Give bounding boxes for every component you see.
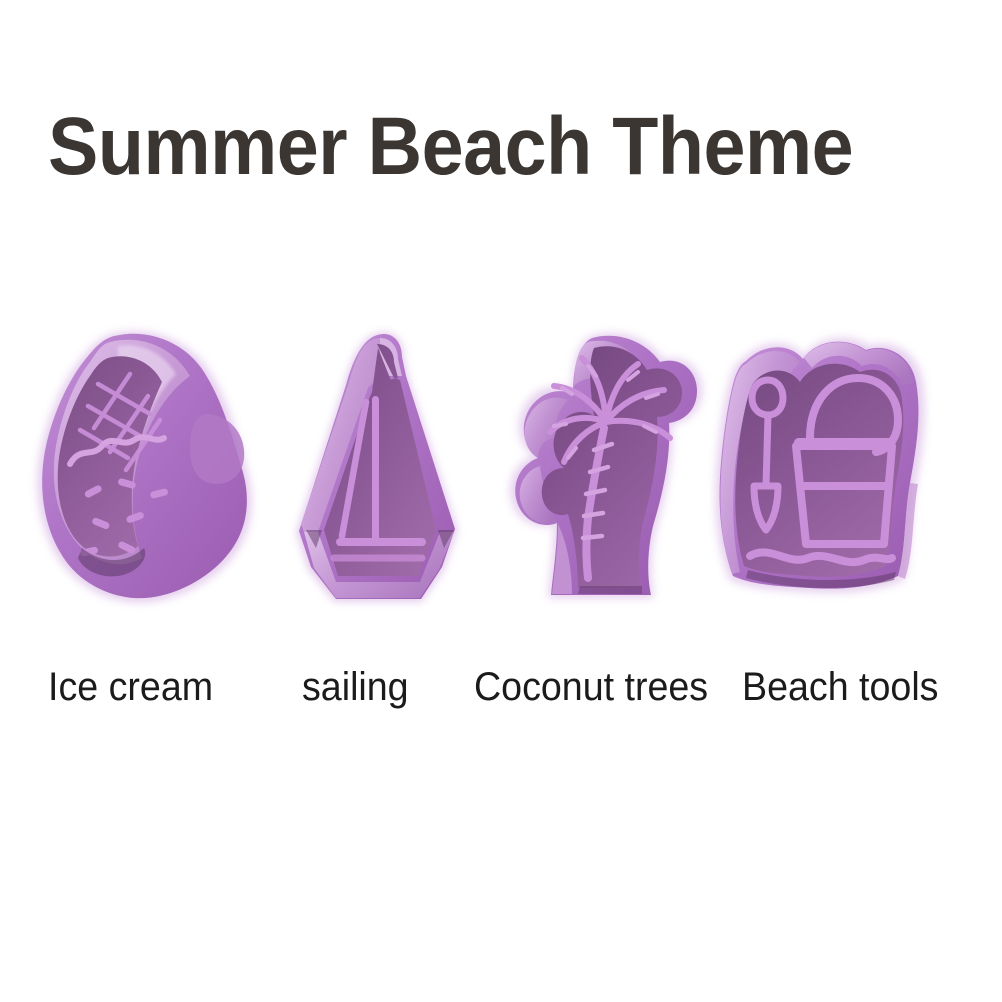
deck-line <box>336 538 426 546</box>
pail-band-line <box>800 482 890 490</box>
cutter-sailing[interactable] <box>272 318 488 618</box>
page-title: Summer Beach Theme <box>48 104 830 190</box>
pail-rim-band <box>794 438 894 447</box>
cutter-ice-cream[interactable] <box>22 318 264 618</box>
mast-line <box>372 396 379 546</box>
cutter-beach-tools[interactable] <box>692 318 944 618</box>
cutter-coconut-trees[interactable] <box>488 318 714 618</box>
product-image-canvas: Summer Beach Theme <box>0 0 1002 1002</box>
label-sailing: sailing <box>302 662 409 712</box>
caption-row: Ice cream sailing Coconut trees Beach to… <box>0 662 1002 718</box>
label-beach-tools: Beach tools <box>742 662 938 712</box>
cutter-bottom-edge <box>578 586 642 594</box>
label-coconut-trees: Coconut trees <box>474 662 708 712</box>
cutter-side-lobe <box>190 414 244 484</box>
product-row <box>0 318 1002 623</box>
shovel-shaft <box>766 415 768 486</box>
beach-tools-cutter-illustration <box>692 318 944 618</box>
label-ice-cream: Ice cream <box>48 662 213 712</box>
coconut-trees-cutter-illustration <box>488 318 714 618</box>
ice-cream-cutter-illustration <box>22 318 264 618</box>
sailing-cutter-illustration <box>272 318 488 618</box>
